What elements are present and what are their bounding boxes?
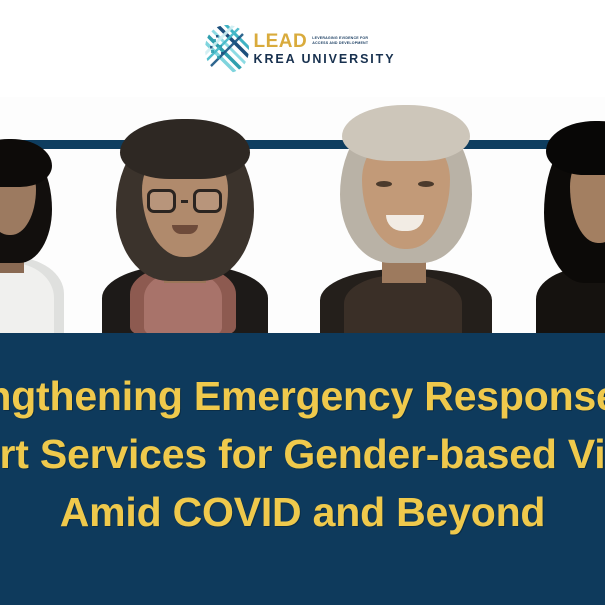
headline-line-2: ort Services for Gender-based Vio <box>0 425 605 483</box>
logo-wordmark-group: LEAD LEVERAGING EVIDENCE FOR ACCESS AND … <box>254 32 396 66</box>
logo-wordmark-lead: LEAD <box>254 32 308 51</box>
eyeglasses <box>147 189 222 213</box>
headline-line-1: ngthening Emergency Response <box>0 367 605 425</box>
logo-top-row: LEAD LEVERAGING EVIDENCE FOR ACCESS AND … <box>254 32 396 51</box>
portrait-3-woman-grey-hair-smiling <box>320 97 490 333</box>
title-banner: ngthening Emergency Response ort Service… <box>0 333 605 605</box>
portrait-2-woman-with-glasses <box>100 97 270 333</box>
portrait-4-right-edge-cropped <box>540 97 605 333</box>
portrait-1-left-edge-cropped <box>0 97 62 333</box>
headline-line-3: Amid COVID and Beyond <box>0 483 605 541</box>
lead-krea-logo: LEAD LEVERAGING EVIDENCE FOR ACCESS AND … <box>204 24 396 74</box>
poster-header: LEAD LEVERAGING EVIDENCE FOR ACCESS AND … <box>0 0 605 97</box>
logo-institution-name: KREA UNIVERSITY <box>254 53 396 66</box>
event-poster: LEAD LEVERAGING EVIDENCE FOR ACCESS AND … <box>0 0 605 605</box>
headline-block: ngthening Emergency Response ort Service… <box>0 367 605 541</box>
logo-tagline: LEVERAGING EVIDENCE FOR ACCESS AND DEVEL… <box>312 36 372 46</box>
navy-accent-stripe <box>0 140 605 149</box>
portrait-photo-band <box>0 97 605 333</box>
lead-krea-woven-diamond-mark <box>204 24 250 74</box>
